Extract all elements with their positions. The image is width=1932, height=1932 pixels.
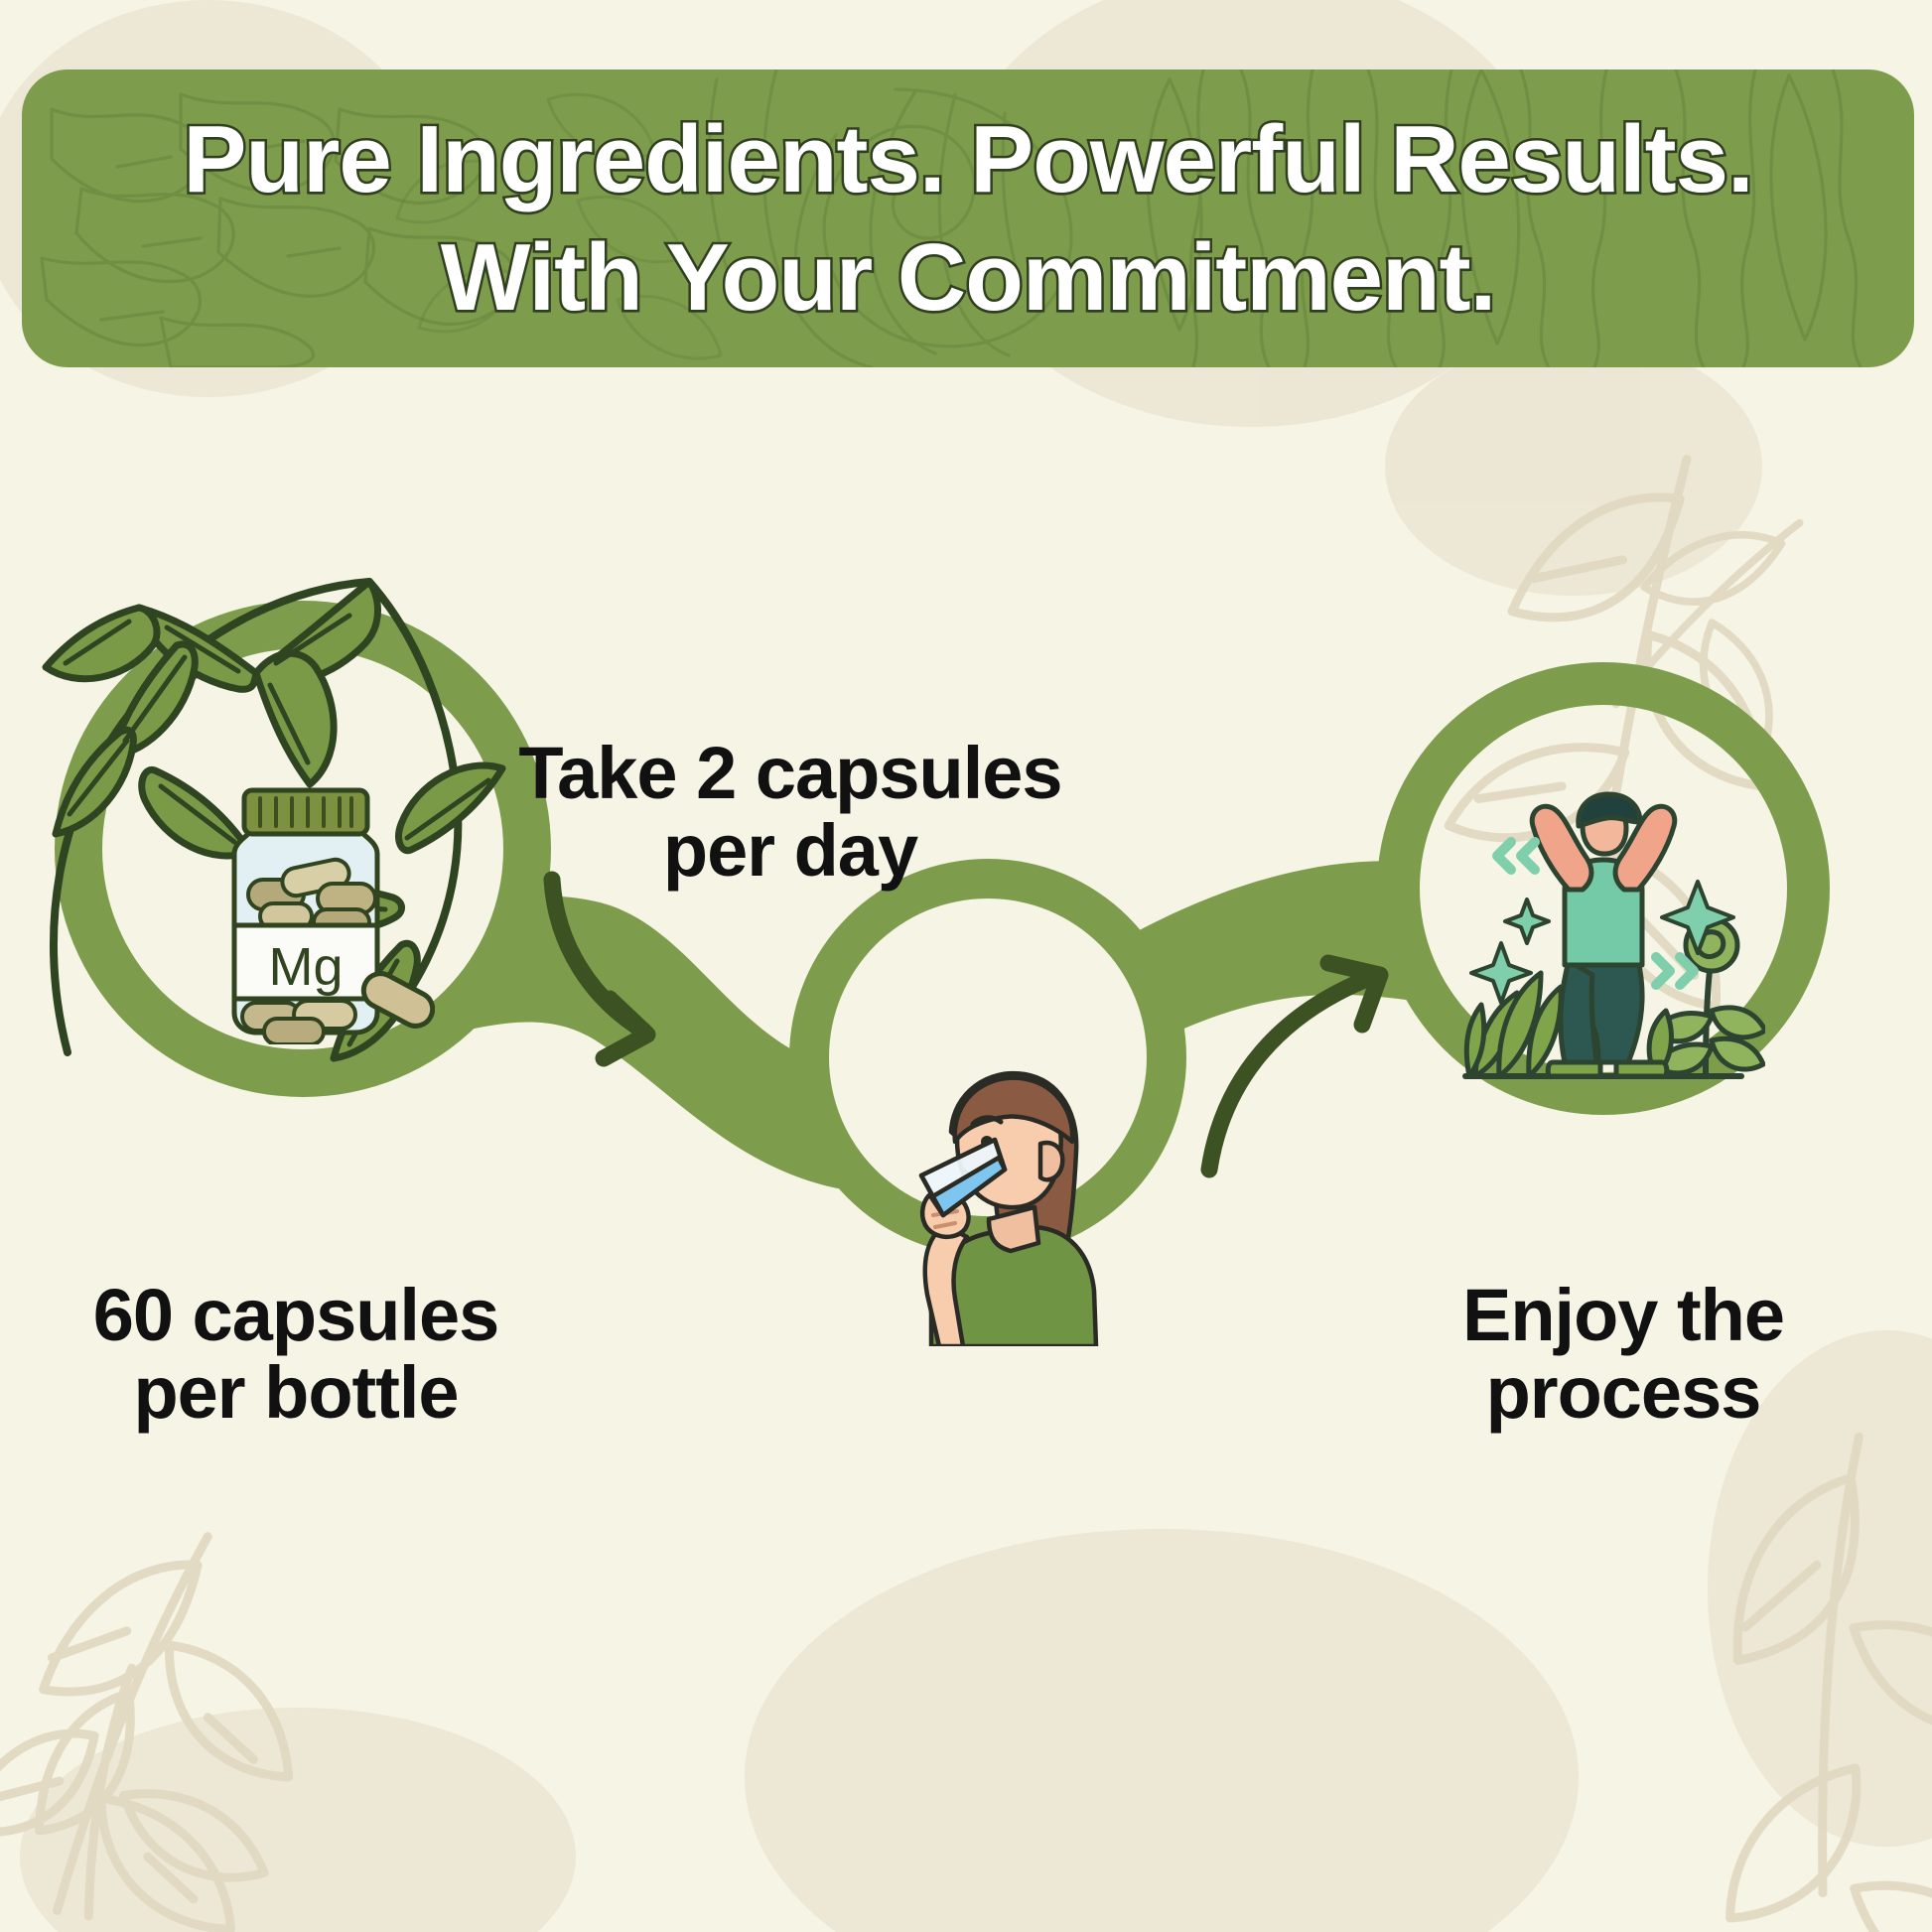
caption-60-capsules: 60 capsules per bottle (18, 1277, 574, 1431)
bottle-label-text: Mg (268, 937, 343, 997)
caption-right-line-1: Enjoy the (1462, 1274, 1784, 1356)
banner-headline-line-2: With Your Commitment. (441, 221, 1496, 334)
caption-left-line-1: 60 capsules (93, 1274, 499, 1356)
caption-mid-line-2: per day (502, 812, 1078, 890)
banner-headline-line-1: Pure Ingredients. Powerful Results. (183, 103, 1752, 215)
celebrating-person-icon (1442, 786, 1765, 1110)
header-banner: Pure Ingredients. Powerful Results. With… (22, 69, 1914, 367)
caption-mid-line-1: Take 2 capsules (518, 732, 1061, 814)
woman-drinking-water-icon (840, 1048, 1138, 1346)
supplement-bottle-icon: Mg (177, 776, 435, 1044)
banner-text-block: Pure Ingredients. Powerful Results. With… (22, 69, 1914, 367)
caption-left-line-2: per bottle (18, 1354, 574, 1432)
infographic-canvas: Pure Ingredients. Powerful Results. With… (0, 0, 1932, 1932)
caption-enjoy-the-process: Enjoy the process (1360, 1277, 1886, 1431)
caption-take-2-capsules: Take 2 capsules per day (502, 735, 1078, 889)
caption-right-line-2: process (1360, 1354, 1886, 1432)
